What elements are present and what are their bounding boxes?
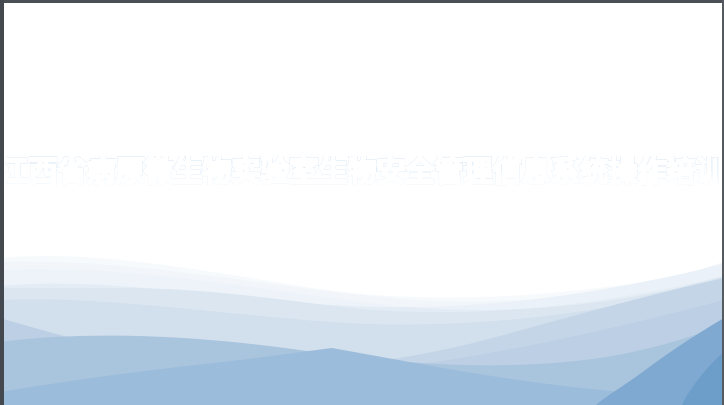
window-border-left (0, 0, 4, 405)
background-wave-graphic (0, 0, 724, 405)
page-title: 江西省病原微生物实验室生物安全管理信息系统操作培训 (0, 156, 724, 188)
window-border-top (0, 0, 724, 3)
slide-canvas: 江西省病原微生物实验室生物安全管理信息系统操作培训 江西省病原微生物实验室生物安… (0, 0, 724, 405)
title-block: 江西省病原微生物实验室生物安全管理信息系统操作培训 (0, 148, 724, 196)
